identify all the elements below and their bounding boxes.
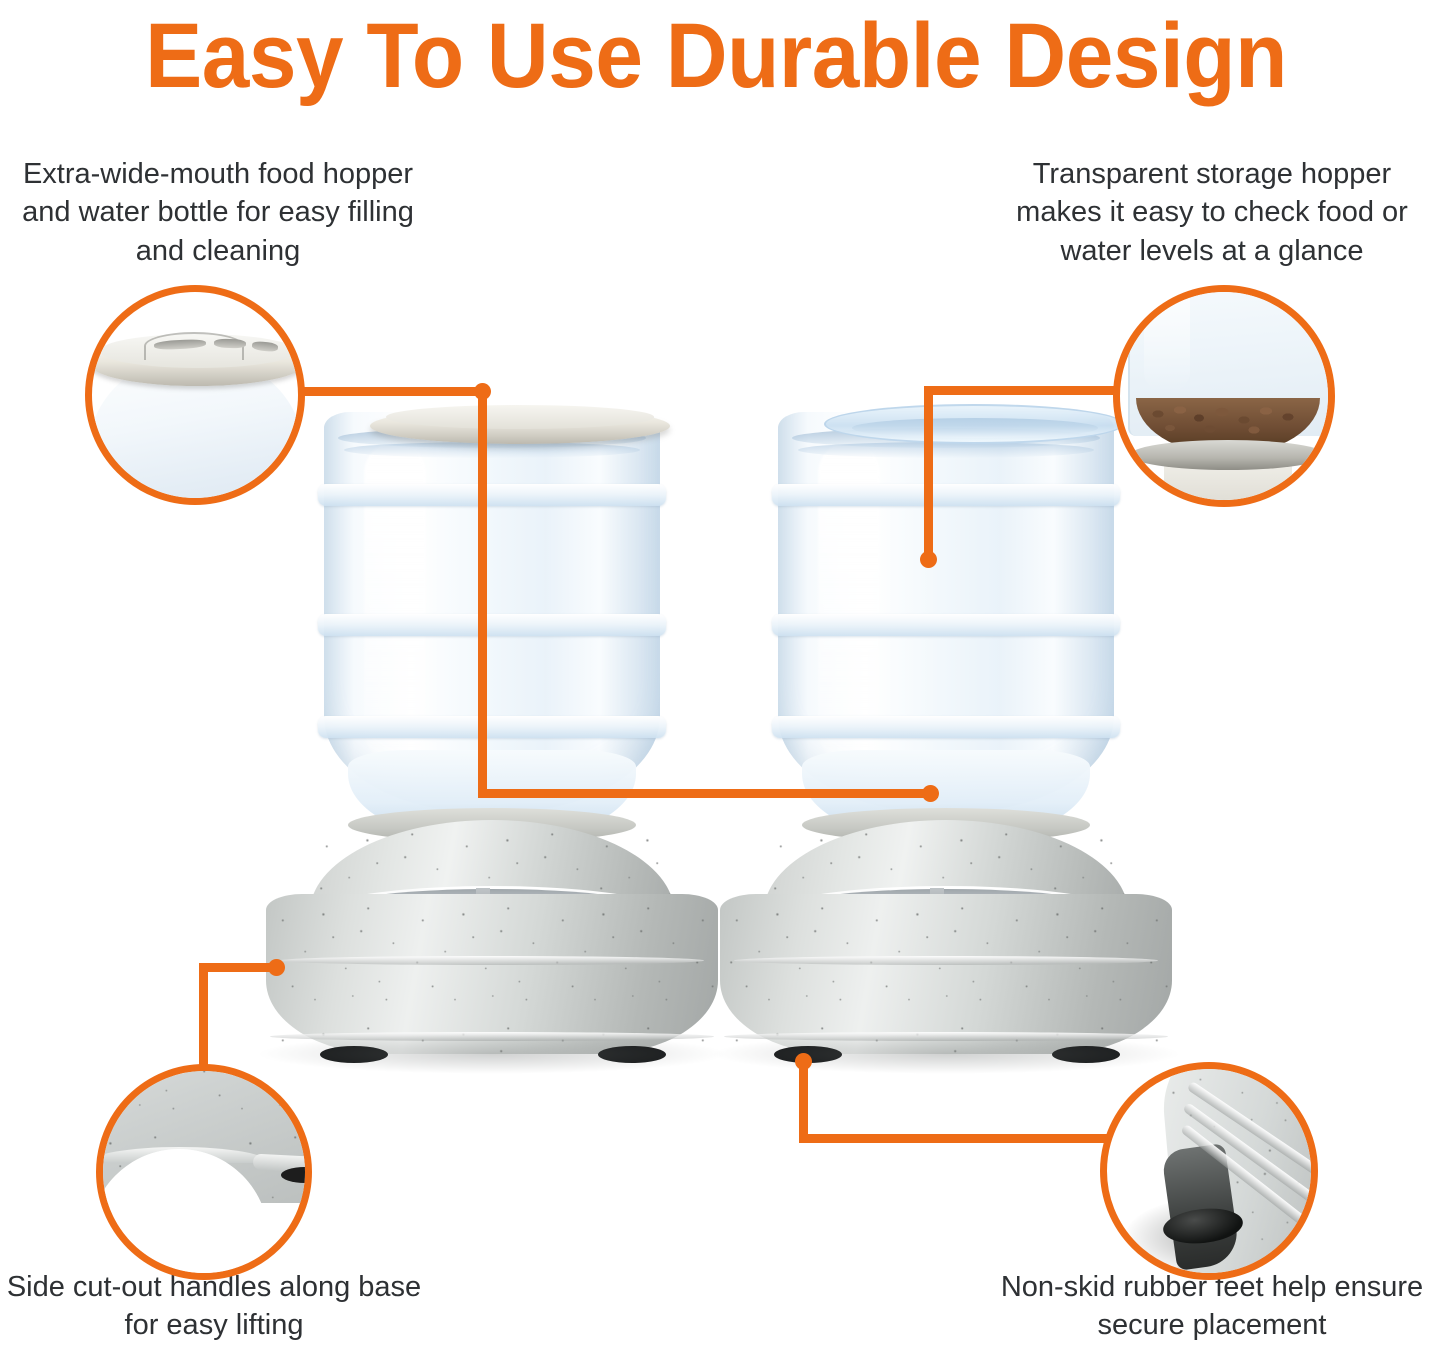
leader-line-2-horizontal bbox=[924, 386, 1124, 395]
leader-line-1-horizontal bbox=[296, 387, 486, 396]
leader-line-4-vertical bbox=[799, 1062, 808, 1142]
right-base bbox=[716, 808, 1176, 1070]
right-base-lower bbox=[720, 894, 1172, 1054]
leader-line-1-vertical bbox=[478, 391, 487, 795]
callout-circle-transparent-hopper[interactable] bbox=[1113, 285, 1335, 507]
lid-slot bbox=[214, 338, 246, 348]
bottle-rib bbox=[318, 614, 666, 636]
leader-line-3-horizontal bbox=[199, 963, 277, 972]
leader-dot-hopper bbox=[920, 551, 937, 568]
left-bottle-fill-line bbox=[344, 442, 640, 458]
wide-mouth-lid-icon[interactable] bbox=[370, 408, 670, 444]
leader-line-4-horizontal bbox=[799, 1134, 1111, 1143]
leader-dot-lid bbox=[474, 383, 491, 400]
page-title: Easy To Use Durable Design bbox=[50, 0, 1382, 112]
product-left-food-dispenser bbox=[262, 372, 722, 1072]
leader-line-2-vertical bbox=[924, 386, 933, 562]
leader-dot-right-neck bbox=[922, 785, 939, 802]
callout-handle-art bbox=[103, 1071, 305, 1273]
infographic-canvas: Easy To Use Durable Design Extra-wide-mo… bbox=[0, 0, 1432, 1348]
left-bottle bbox=[324, 398, 660, 828]
callout-foot-art bbox=[1107, 1069, 1311, 1273]
bottle-rib bbox=[318, 716, 666, 738]
callout-hopper-art bbox=[1120, 292, 1328, 500]
leader-line-1-horizontal-2 bbox=[478, 789, 938, 798]
drop-shadow bbox=[256, 1034, 728, 1074]
callout-circle-side-cut-out-handles[interactable] bbox=[96, 1064, 312, 1280]
base-ring bbox=[734, 956, 1158, 965]
caption-transparent-hopper: Transparent storage hopper makes it easy… bbox=[1000, 155, 1424, 270]
caption-extra-wide-mouth: Extra-wide-mouth food hopper and water b… bbox=[8, 155, 428, 270]
product-right-water-dispenser bbox=[716, 372, 1176, 1072]
right-bottle bbox=[778, 398, 1114, 828]
open-hopper-rim[interactable] bbox=[824, 404, 1124, 444]
hopper-pan bbox=[1130, 440, 1326, 470]
speckle-texture bbox=[720, 894, 1172, 1054]
callout-lid-art bbox=[92, 292, 298, 498]
bottle-rib bbox=[772, 614, 1120, 636]
base-ring bbox=[280, 956, 704, 965]
leader-line-3-vertical bbox=[199, 963, 208, 1075]
callout-circle-extra-wide-mouth[interactable] bbox=[85, 285, 305, 505]
bottle-rib bbox=[772, 716, 1120, 738]
left-base bbox=[262, 808, 722, 1070]
leader-dot-foot bbox=[795, 1053, 812, 1070]
bottle-rib bbox=[772, 484, 1120, 506]
speckle-texture bbox=[266, 894, 718, 1054]
left-base-lower bbox=[266, 894, 718, 1054]
leader-dot-handle bbox=[268, 959, 285, 976]
drop-shadow bbox=[710, 1034, 1182, 1074]
right-bottle-fill-line bbox=[798, 442, 1094, 458]
bottle-rib bbox=[318, 484, 666, 506]
callout-circle-non-skid-rubber-feet[interactable] bbox=[1100, 1062, 1318, 1280]
